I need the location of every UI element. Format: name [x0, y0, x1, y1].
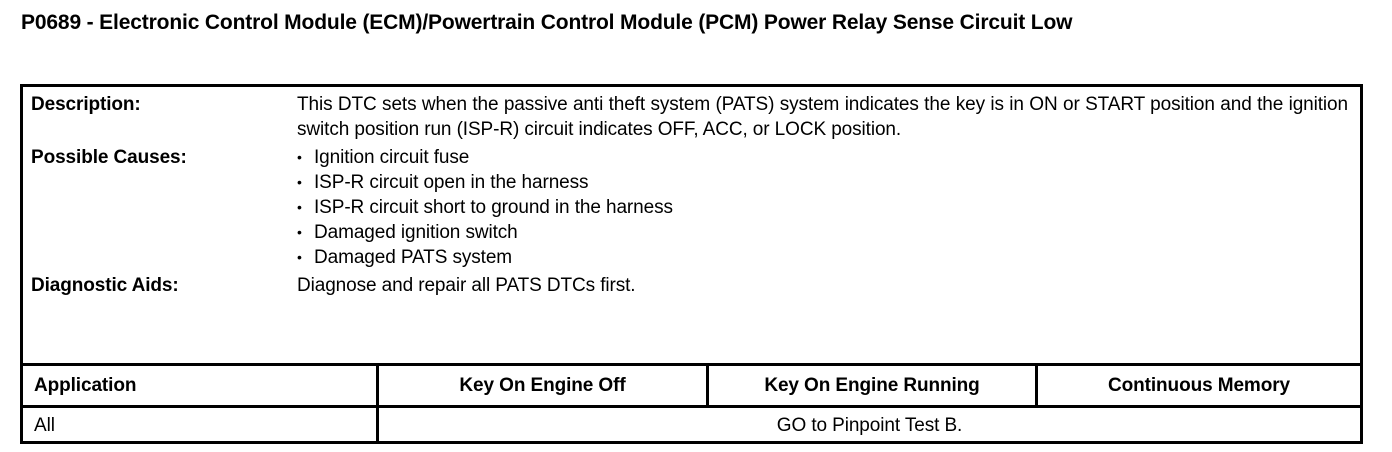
- column-header-continuous-memory: Continuous Memory: [1035, 366, 1363, 405]
- application-table: Application Key On Engine Off Key On Eng…: [20, 363, 1363, 444]
- cell-application: All: [20, 408, 376, 444]
- column-header-key-on-engine-running: Key On Engine Running: [706, 366, 1035, 405]
- list-item: Damaged PATS system: [297, 245, 1348, 270]
- possible-causes-row: Possible Causes: Ignition circuit fuse I…: [23, 145, 1360, 270]
- dtc-info-table: Description: This DTC sets when the pass…: [20, 84, 1363, 444]
- list-item: Ignition circuit fuse: [297, 145, 1348, 170]
- list-item: Damaged ignition switch: [297, 220, 1348, 245]
- page-title: P0689 - Electronic Control Module (ECM)/…: [21, 10, 1371, 35]
- description-row: Description: This DTC sets when the pass…: [23, 87, 1360, 142]
- column-header-key-on-engine-off: Key On Engine Off: [376, 366, 706, 405]
- description-label: Description:: [23, 87, 297, 117]
- table-header-row: Application Key On Engine Off Key On Eng…: [20, 363, 1363, 408]
- possible-causes-label: Possible Causes:: [23, 145, 297, 170]
- possible-causes-value: Ignition circuit fuse ISP-R circuit open…: [297, 145, 1360, 270]
- diagnostic-aids-text: Diagnose and repair all PATS DTCs first.: [297, 273, 1360, 298]
- table-row: All GO to Pinpoint Test B.: [20, 408, 1363, 444]
- column-header-application: Application: [20, 366, 376, 405]
- list-item: ISP-R circuit open in the harness: [297, 170, 1348, 195]
- list-item: ISP-R circuit short to ground in the har…: [297, 195, 1348, 220]
- dtc-info-section: Description: This DTC sets when the pass…: [23, 87, 1360, 298]
- possible-causes-list: Ignition circuit fuse ISP-R circuit open…: [297, 145, 1348, 270]
- cell-test-result: GO to Pinpoint Test B.: [376, 408, 1363, 444]
- diagnostic-aids-label: Diagnostic Aids:: [23, 273, 297, 298]
- diagnostic-aids-row: Diagnostic Aids: Diagnose and repair all…: [23, 273, 1360, 298]
- description-text: This DTC sets when the passive anti thef…: [297, 87, 1360, 142]
